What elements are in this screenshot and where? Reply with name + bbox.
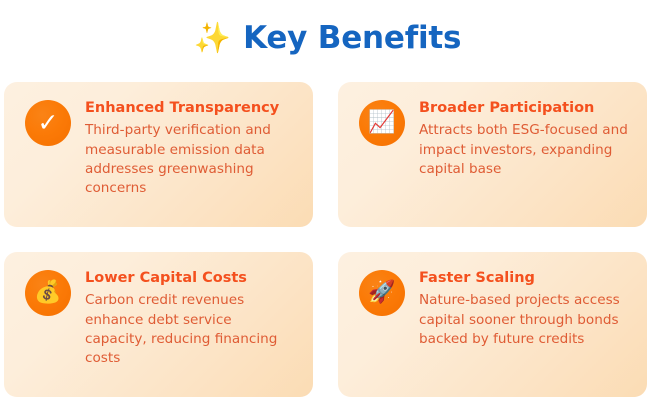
- benefit-card-body: Faster Scaling Nature-based projects acc…: [419, 269, 631, 349]
- benefit-icon-badge: 📈: [359, 100, 405, 146]
- benefit-card-description: Carbon credit revenues enhance debt serv…: [85, 291, 297, 368]
- benefit-card-title: Lower Capital Costs: [85, 270, 297, 287]
- chart-increasing-icon: 📈: [368, 112, 395, 134]
- benefit-card-title: Broader Participation: [419, 100, 631, 117]
- benefit-card-broader-participation: 📈 Broader Participation Attracts both ES…: [338, 82, 647, 227]
- page-header: ✨ Key Benefits: [0, 0, 655, 72]
- benefit-card-lower-capital-costs: 💰 Lower Capital Costs Carbon credit reve…: [4, 252, 313, 397]
- money-bag-icon: 💰: [34, 282, 61, 304]
- benefit-card-body: Lower Capital Costs Carbon credit revenu…: [85, 269, 297, 369]
- page-title: Key Benefits: [243, 23, 461, 54]
- check-mark-icon: ✓: [38, 110, 59, 135]
- benefits-card-grid: ✓ Enhanced Transparency Third-party veri…: [4, 82, 651, 397]
- rocket-icon: 🚀: [368, 282, 395, 304]
- benefit-card-description: Nature-based projects access capital soo…: [419, 291, 631, 349]
- benefit-card-body: Broader Participation Attracts both ESG-…: [419, 99, 631, 179]
- benefit-icon-badge: 💰: [25, 270, 71, 316]
- benefit-card-body: Enhanced Transparency Third-party verifi…: [85, 99, 297, 199]
- sparkles-icon: ✨: [194, 24, 231, 54]
- benefit-card-description: Attracts both ESG-focused and impact inv…: [419, 121, 631, 179]
- benefit-card-description: Third-party verification and measurable …: [85, 121, 297, 198]
- benefit-icon-badge: ✓: [25, 100, 71, 146]
- benefit-card-faster-scaling: 🚀 Faster Scaling Nature-based projects a…: [338, 252, 647, 397]
- benefit-card-title: Faster Scaling: [419, 270, 631, 287]
- benefit-card-enhanced-transparency: ✓ Enhanced Transparency Third-party veri…: [4, 82, 313, 227]
- key-benefits-page: ✨ Key Benefits ✓ Enhanced Transparency T…: [0, 0, 655, 409]
- benefit-icon-badge: 🚀: [359, 270, 405, 316]
- benefit-card-title: Enhanced Transparency: [85, 100, 297, 117]
